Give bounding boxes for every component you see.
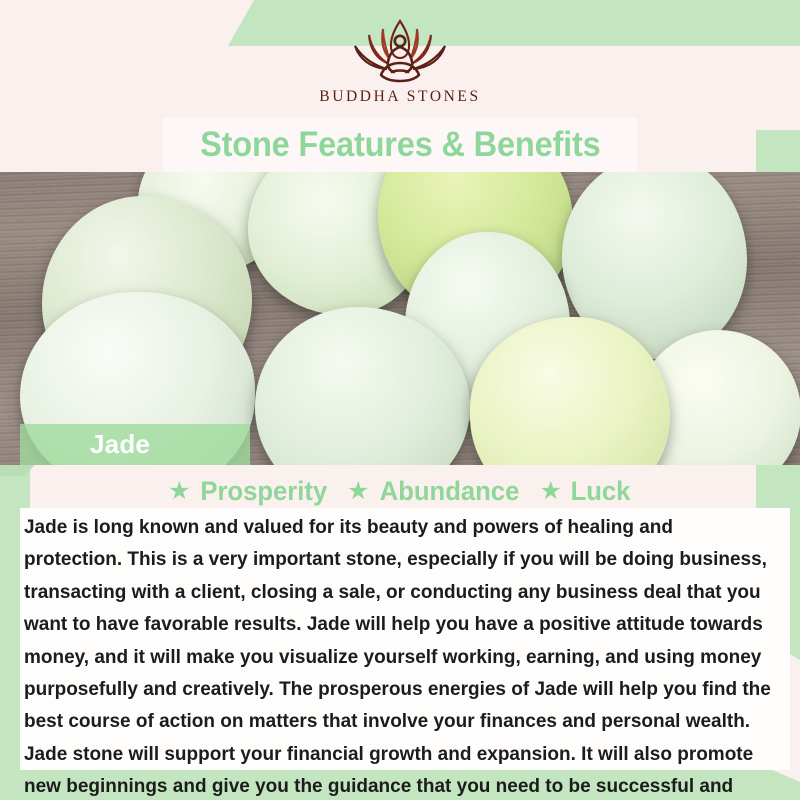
jade-tumbled-stones-photo <box>0 172 800 465</box>
keyword-label: Luck <box>570 476 630 507</box>
keyword-label: Prosperity <box>201 476 328 507</box>
keyword-item-abundance: ★ Abundance <box>347 476 523 507</box>
keyword-label: Abundance <box>380 476 520 507</box>
keyword-list: ★ Prosperity ★ Abundance ★ Luck <box>0 476 800 507</box>
stone-name-badge: Jade <box>20 424 250 465</box>
description-panel: Jade is long known and valued for its be… <box>20 508 790 770</box>
keyword-item-luck: ★ Luck <box>539 476 631 507</box>
stone-name-label: Jade <box>90 429 150 460</box>
keyword-item-prosperity: ★ Prosperity <box>168 476 331 507</box>
star-icon: ★ <box>168 479 190 504</box>
stone-benefits-infographic: BUDDHA STONES Stone Features & Benefits … <box>0 0 800 800</box>
page-title: Stone Features & Benefits <box>200 125 601 165</box>
star-icon: ★ <box>539 479 561 504</box>
star-icon: ★ <box>347 479 369 504</box>
lotus-meditation-icon <box>325 15 475 83</box>
description-text: Jade is long known and valued for its be… <box>24 512 773 800</box>
brand-header: BUDDHA STONES <box>0 0 800 120</box>
title-banner: Stone Features & Benefits <box>163 118 637 172</box>
brand-name: BUDDHA STONES <box>319 88 480 106</box>
